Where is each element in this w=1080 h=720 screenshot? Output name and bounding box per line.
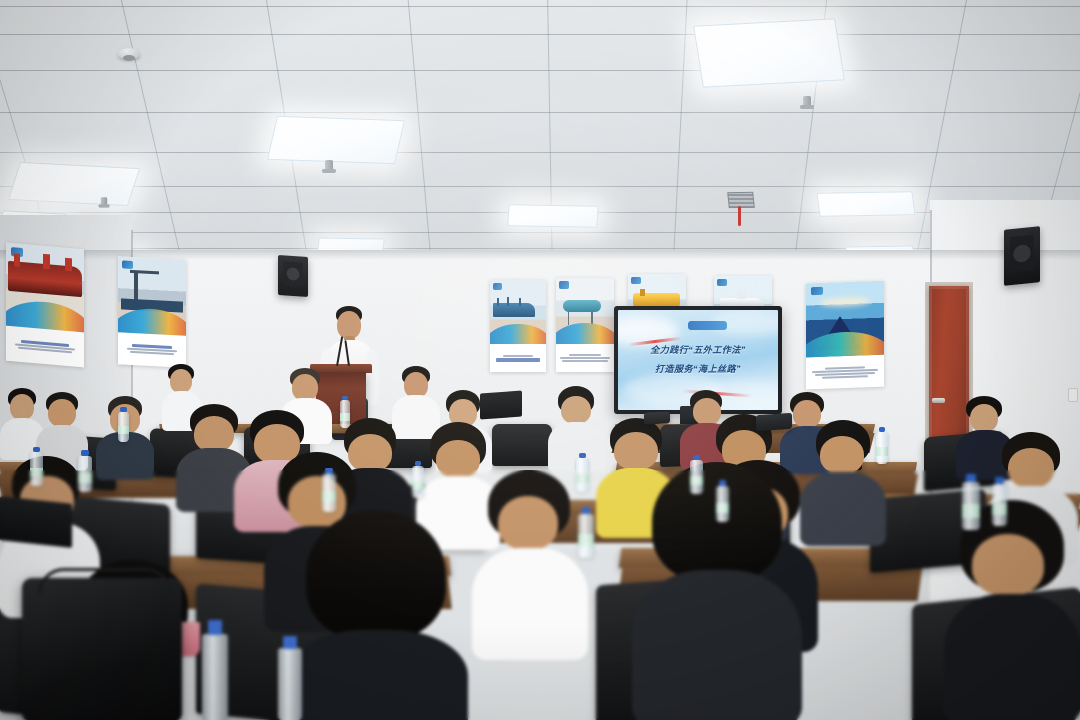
ceiling-light-panel bbox=[8, 162, 140, 206]
slide-line-2: 打造服务“海上丝路” bbox=[618, 362, 778, 375]
sprinkler-head-icon bbox=[101, 197, 107, 207]
sprinkler-head-icon bbox=[325, 160, 333, 172]
sprinkler-head-icon bbox=[803, 96, 811, 108]
water-bottle[interactable] bbox=[576, 458, 589, 492]
wall-poster bbox=[806, 281, 884, 390]
water-bottle-metal[interactable] bbox=[202, 634, 228, 720]
slide-banner bbox=[688, 321, 726, 330]
water-bottle[interactable] bbox=[716, 486, 729, 522]
water-bottle[interactable] bbox=[30, 452, 43, 486]
water-bottle[interactable] bbox=[876, 432, 888, 464]
wall-poster bbox=[118, 256, 186, 368]
slide-line-1: 全力践行“五外工作法” bbox=[618, 343, 778, 356]
conference-room-photo: 全力践行“五外工作法” 打造服务“海上丝路” bbox=[0, 0, 1080, 720]
ceiling-light-panel bbox=[693, 18, 845, 87]
audience-person bbox=[288, 510, 468, 720]
water-bottle[interactable] bbox=[412, 466, 424, 498]
water-bottle[interactable] bbox=[340, 400, 350, 428]
conference-phone[interactable] bbox=[756, 413, 792, 432]
ceiling-light-panel bbox=[507, 204, 599, 228]
water-bottle-metal[interactable] bbox=[278, 648, 302, 720]
ceiling-light-panel bbox=[267, 116, 405, 164]
water-bottle[interactable] bbox=[690, 460, 703, 494]
audience-person bbox=[944, 500, 1080, 720]
suspended-ceiling bbox=[0, 0, 1080, 278]
wall-poster bbox=[556, 278, 614, 372]
ceiling-light-panel bbox=[816, 191, 915, 217]
laptop[interactable] bbox=[480, 391, 522, 420]
water-bottle[interactable] bbox=[992, 484, 1007, 526]
ceiling-air-vent bbox=[727, 192, 755, 208]
presenter-head bbox=[337, 311, 361, 339]
smoke-detector-icon bbox=[118, 48, 140, 59]
water-bottle[interactable] bbox=[78, 456, 92, 492]
water-bottle[interactable] bbox=[322, 474, 336, 512]
water-bottle[interactable] bbox=[962, 482, 980, 530]
conference-phone[interactable] bbox=[644, 411, 670, 424]
water-bottle[interactable] bbox=[578, 514, 594, 558]
wall-speaker-left bbox=[278, 255, 308, 297]
wall-poster bbox=[6, 243, 84, 368]
laptop[interactable] bbox=[0, 496, 72, 548]
wall-speaker-right bbox=[1004, 226, 1040, 286]
wall-poster bbox=[490, 280, 546, 372]
door-handle-icon[interactable] bbox=[932, 398, 945, 403]
water-bottle[interactable] bbox=[118, 412, 129, 442]
light-switch[interactable] bbox=[1068, 388, 1078, 402]
backpack[interactable] bbox=[22, 578, 182, 720]
sprinkler-pipe bbox=[738, 206, 741, 226]
audience-person bbox=[472, 470, 588, 650]
conference-chair[interactable] bbox=[492, 424, 552, 466]
presenter-arm-right bbox=[365, 350, 379, 406]
